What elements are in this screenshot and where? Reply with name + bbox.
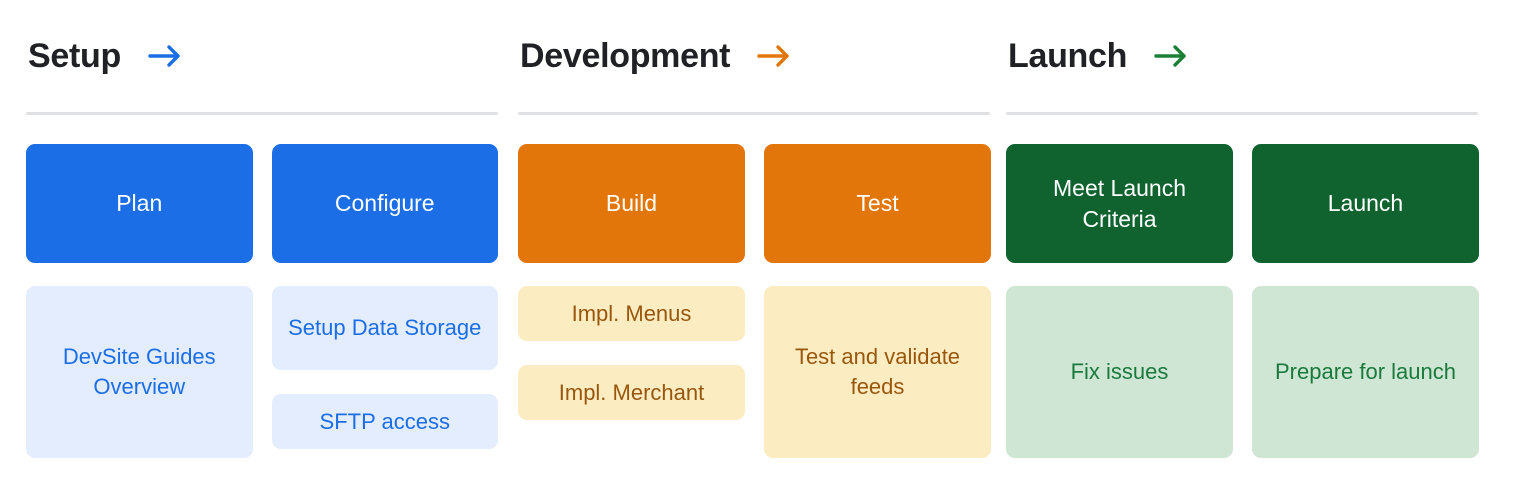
stage-card-meet-launch-criteria[interactable]: Meet Launch Criteria: [1006, 144, 1233, 263]
phase-column-development: Development Build Impl. Menus Impl. Merc…: [498, 0, 992, 484]
arrow-right-icon: [756, 41, 794, 71]
phase-header-development: Development: [518, 0, 992, 112]
track-column-build: Build Impl. Menus Impl. Merchant: [518, 144, 745, 458]
phase-column-launch: Launch Meet Launch Criteria Fix issues L…: [992, 0, 1518, 484]
task-list-meet-launch-criteria: Fix issues: [1006, 286, 1233, 458]
stage-card-build[interactable]: Build: [518, 144, 745, 263]
stage-card-plan[interactable]: Plan: [26, 144, 253, 263]
task-card[interactable]: Fix issues: [1006, 286, 1233, 458]
roadmap-diagram: Setup Plan DevSite Guides Overview Confi…: [0, 0, 1518, 484]
stage-card-test[interactable]: Test: [764, 144, 991, 263]
phase-divider-launch: [1006, 112, 1478, 115]
track-column-test: Test Test and validate feeds: [764, 144, 991, 458]
task-card[interactable]: Prepare for launch: [1252, 286, 1479, 458]
task-card[interactable]: SFTP access: [272, 394, 499, 449]
phase-title-setup: Setup: [28, 39, 121, 73]
phase-divider-setup: [26, 112, 498, 115]
task-card[interactable]: Impl. Merchant: [518, 365, 745, 420]
track-column-launch: Launch Prepare for launch: [1252, 144, 1479, 458]
phase-column-setup: Setup Plan DevSite Guides Overview Confi…: [0, 0, 498, 484]
phase-title-launch: Launch: [1008, 39, 1127, 73]
track-column-plan: Plan DevSite Guides Overview: [26, 144, 253, 458]
stage-card-configure[interactable]: Configure: [272, 144, 499, 263]
phase-columns-development: Build Impl. Menus Impl. Merchant Test Te…: [518, 144, 992, 458]
task-card[interactable]: DevSite Guides Overview: [26, 286, 253, 458]
task-card[interactable]: Test and validate feeds: [764, 286, 991, 458]
task-list-build: Impl. Menus Impl. Merchant: [518, 286, 745, 420]
phase-columns-launch: Meet Launch Criteria Fix issues Launch P…: [1006, 144, 1492, 458]
task-card[interactable]: Impl. Menus: [518, 286, 745, 341]
arrow-right-icon: [1153, 41, 1191, 71]
track-column-meet-launch-criteria: Meet Launch Criteria Fix issues: [1006, 144, 1233, 458]
phase-header-launch: Launch: [1006, 0, 1492, 112]
task-list-configure: Setup Data Storage SFTP access: [272, 286, 499, 449]
track-column-configure: Configure Setup Data Storage SFTP access: [272, 144, 499, 458]
task-list-test: Test and validate feeds: [764, 286, 991, 458]
task-card[interactable]: Setup Data Storage: [272, 286, 499, 370]
task-list-launch: Prepare for launch: [1252, 286, 1479, 458]
stage-card-launch[interactable]: Launch: [1252, 144, 1479, 263]
phase-header-setup: Setup: [26, 0, 498, 112]
phase-divider-development: [518, 112, 990, 115]
task-list-plan: DevSite Guides Overview: [26, 286, 253, 458]
phase-title-development: Development: [520, 39, 730, 73]
arrow-right-icon: [147, 41, 185, 71]
phase-columns-setup: Plan DevSite Guides Overview Configure S…: [26, 144, 498, 458]
